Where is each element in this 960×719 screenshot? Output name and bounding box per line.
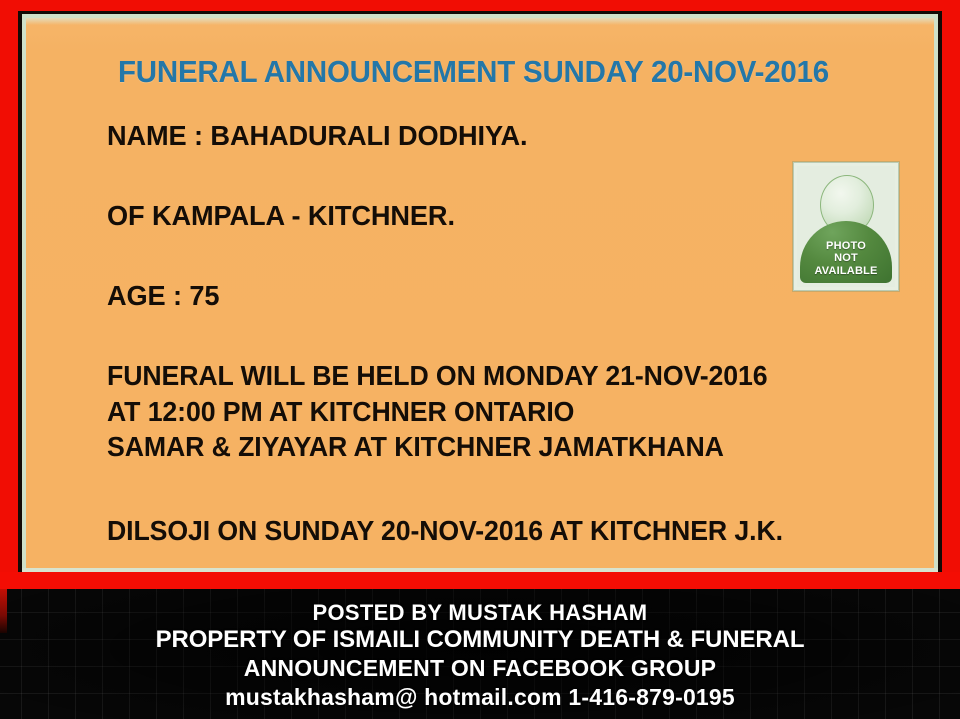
footer-property-line: PROPERTY OF ISMAILI COMMUNITY DEATH & FU…	[0, 626, 960, 654]
age-line: AGE : 75	[107, 276, 786, 316]
service-line-2: AT 12:00 PM AT KITCHNER ONTARIO	[107, 394, 922, 430]
footer-contact-line: mustakhasham@ hotmail.com 1-416-879-0195	[0, 682, 960, 712]
photo-placeholder-inner: PHOTO NOT AVAILABLE	[797, 166, 895, 287]
announcement-card: FUNERAL ANNOUNCEMENT SUNDAY 20-NOV-2016 …	[26, 18, 934, 568]
service-line-1: FUNERAL WILL BE HELD ON MONDAY 21-NOV-20…	[107, 358, 922, 394]
service-details: FUNERAL WILL BE HELD ON MONDAY 21-NOV-20…	[107, 358, 934, 465]
footer: POSTED BY MUSTAK HASHAM PROPERTY OF ISMA…	[0, 589, 960, 719]
deceased-details: NAME : BAHADURALI DODHIYA. OF KAMPALA - …	[107, 116, 807, 316]
footer-posted-by: POSTED BY MUSTAK HASHAM	[0, 599, 960, 626]
service-line-3: SAMAR & ZIYAYAR AT KITCHNER JAMATKHANA	[107, 429, 922, 465]
photo-not-available-caption: PHOTO NOT AVAILABLE	[797, 240, 895, 278]
red-separator-band	[0, 572, 960, 589]
page-title: FUNERAL ANNOUNCEMENT SUNDAY 20-NOV-2016	[118, 54, 829, 90]
funeral-announcement-poster: FUNERAL ANNOUNCEMENT SUNDAY 20-NOV-2016 …	[0, 0, 960, 719]
dilsoji-details: DILSOJI ON SUNDAY 20-NOV-2016 AT KITCHNE…	[107, 513, 934, 548]
origin-line: OF KAMPALA - KITCHNER.	[107, 196, 786, 236]
red-border-frame: FUNERAL ANNOUNCEMENT SUNDAY 20-NOV-2016 …	[0, 0, 960, 589]
footer-group-line: ANNOUNCEMENT ON FACEBOOK GROUP	[0, 654, 960, 682]
photo-caption-line-1: PHOTO	[797, 240, 895, 253]
name-line: NAME : BAHADURALI DODHIYA.	[107, 116, 786, 156]
photo-caption-line-2: NOT	[797, 252, 895, 265]
photo-caption-line-3: AVAILABLE	[797, 265, 895, 278]
photo-placeholder: PHOTO NOT AVAILABLE	[793, 162, 899, 291]
dilsoji-line: DILSOJI ON SUNDAY 20-NOV-2016 AT KITCHNE…	[107, 513, 922, 548]
footer-credits: POSTED BY MUSTAK HASHAM PROPERTY OF ISMA…	[0, 599, 960, 712]
